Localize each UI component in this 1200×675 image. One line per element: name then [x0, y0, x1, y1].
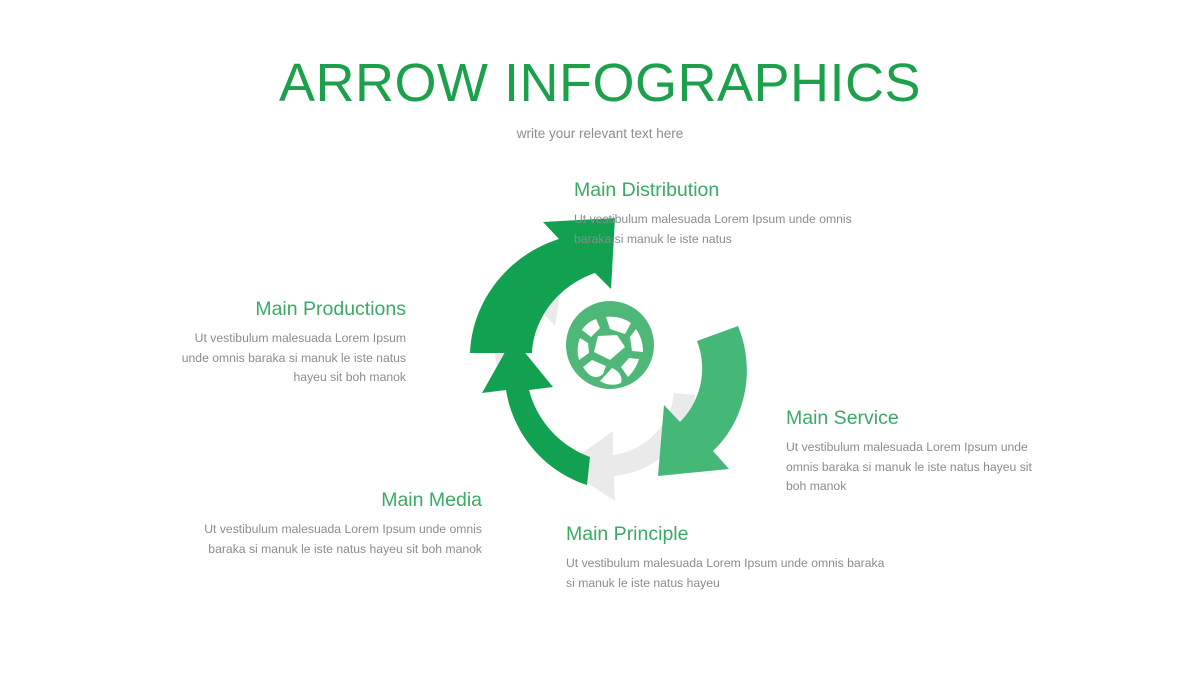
section-heading: Main Distribution [574, 178, 874, 202]
section-main-productions: Main Productions Ut vestibulum malesuada… [166, 297, 406, 387]
infographic-slide: ARROW INFOGRAPHICS write your relevant t… [0, 0, 1200, 675]
section-main-service: Main Service Ut vestibulum malesuada Lor… [786, 406, 1046, 496]
page-subtitle: write your relevant text here [0, 126, 1200, 141]
section-body: Ut vestibulum malesuada Lorem Ipsum unde… [786, 438, 1046, 496]
section-body: Ut vestibulum malesuada Lorem Ipsum unde… [566, 554, 896, 593]
section-main-media: Main Media Ut vestibulum malesuada Lorem… [196, 488, 482, 559]
section-heading: Main Productions [166, 297, 406, 321]
section-main-principle: Main Principle Ut vestibulum malesuada L… [566, 522, 896, 593]
section-body: Ut vestibulum malesuada Lorem Ipsum unde… [196, 520, 482, 559]
section-main-distribution: Main Distribution Ut vestibulum malesuad… [574, 178, 874, 249]
section-body: Ut vestibulum malesuada Lorem Ipsum unde… [166, 329, 406, 387]
section-body: Ut vestibulum malesuada Lorem Ipsum unde… [574, 210, 874, 249]
section-heading: Main Service [786, 406, 1046, 430]
section-heading: Main Media [196, 488, 482, 512]
section-heading: Main Principle [566, 522, 896, 546]
arrow-right-icon [658, 326, 747, 476]
page-title: ARROW INFOGRAPHICS [0, 52, 1200, 114]
